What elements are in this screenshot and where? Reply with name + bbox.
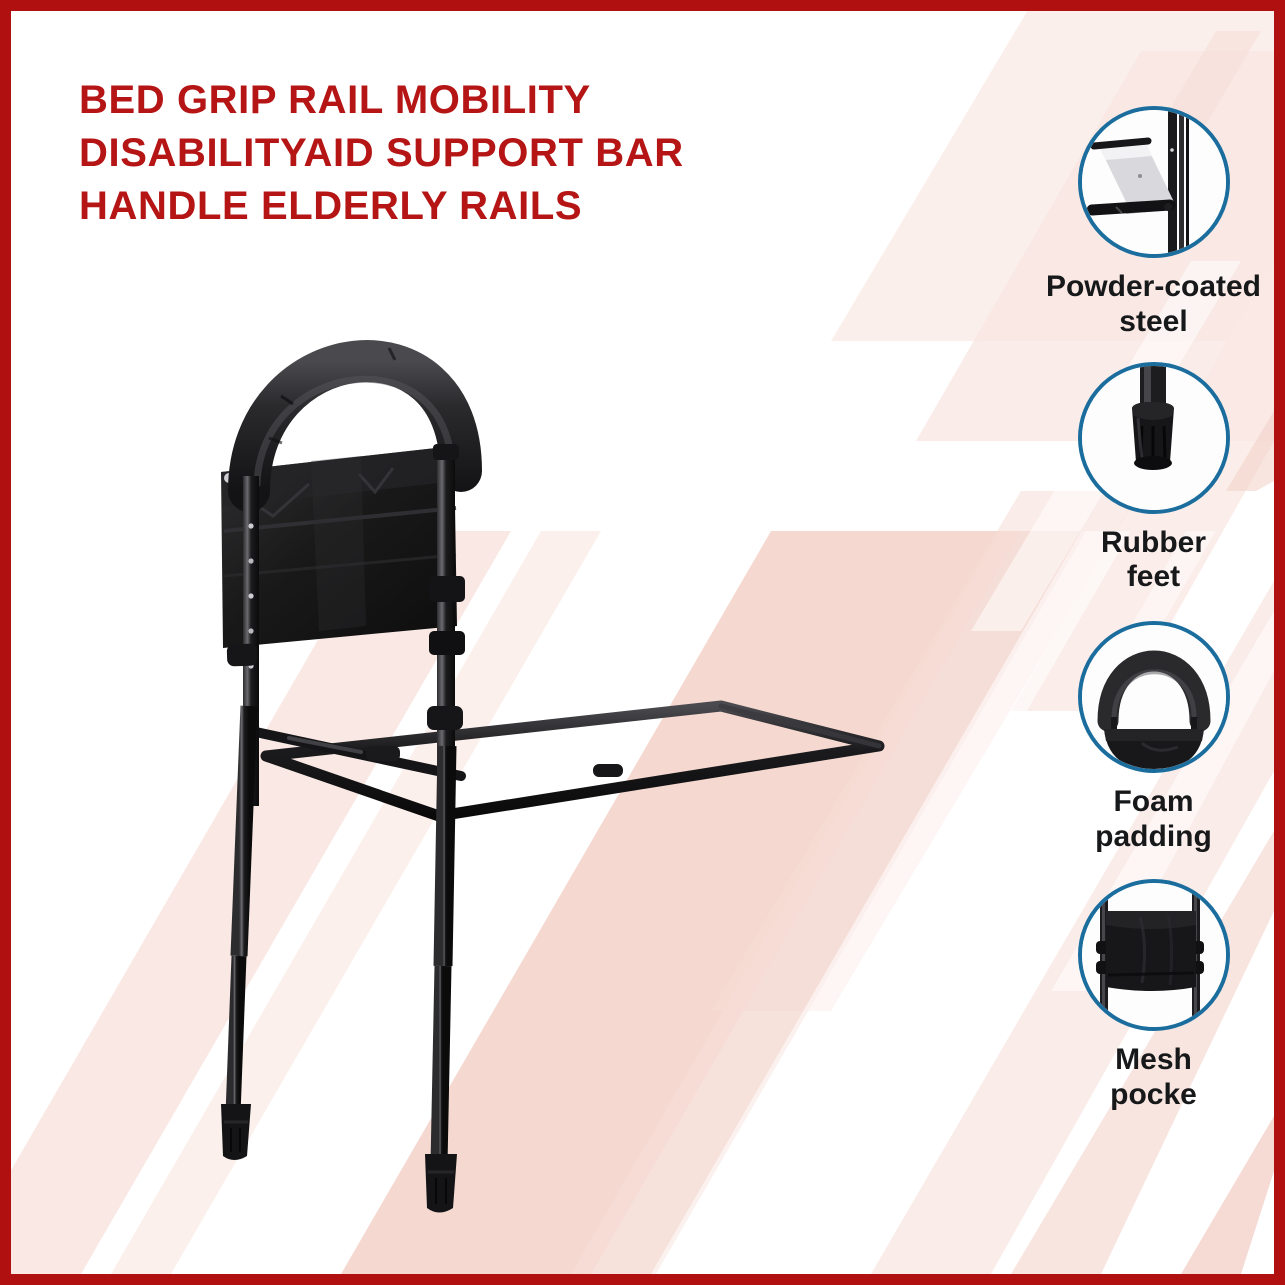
feature-label: Powder-coated steel: [1011, 270, 1285, 340]
feature-label-line-2: padding: [1011, 820, 1285, 855]
feature-label-line-2: pocke: [1011, 1078, 1285, 1113]
title-line-3: HANDLE ELDERLY RAILS: [79, 180, 869, 233]
feature-label-line-1: Foam: [1011, 785, 1285, 820]
feature-label: Mesh pocke: [1011, 1043, 1285, 1113]
rubber-tip-icon: [1078, 362, 1230, 514]
feature-label-line-1: Powder-coated: [1011, 270, 1285, 305]
product-poster: BED GRIP RAIL MOBILITY DISABILITYAID SUP…: [0, 0, 1285, 1285]
feature-label-line-2: steel: [1011, 305, 1285, 340]
feature-label: Foam padding: [1011, 785, 1285, 855]
padded-arch-icon: [1078, 621, 1230, 773]
bracket-closeup-icon: [1078, 106, 1230, 258]
feature-mesh-pocket: Mesh pocke: [1011, 879, 1285, 1113]
page-title: BED GRIP RAIL MOBILITY DISABILITYAID SUP…: [79, 74, 869, 234]
feature-foam-padding: Foam padding: [1011, 621, 1285, 855]
feature-label-line-1: Rubber: [1011, 526, 1285, 561]
product-image: [161, 276, 961, 1226]
feature-label-line-2: feet: [1011, 560, 1285, 595]
feature-powder-coated-steel: Powder-coated steel: [1011, 106, 1285, 340]
feature-callout-list: Powder-coated steel: [1011, 106, 1285, 1120]
feature-label-line-1: Mesh: [1011, 1043, 1285, 1078]
title-line-2: DISABILITYAID SUPPORT BAR: [79, 127, 869, 180]
title-line-1: BED GRIP RAIL MOBILITY: [79, 74, 869, 127]
feature-label: Rubber feet: [1011, 526, 1285, 596]
base-frame: [251, 706, 879, 816]
feature-rubber-feet: Rubber feet: [1011, 362, 1285, 596]
fabric-pouch-icon: [1078, 879, 1230, 1031]
